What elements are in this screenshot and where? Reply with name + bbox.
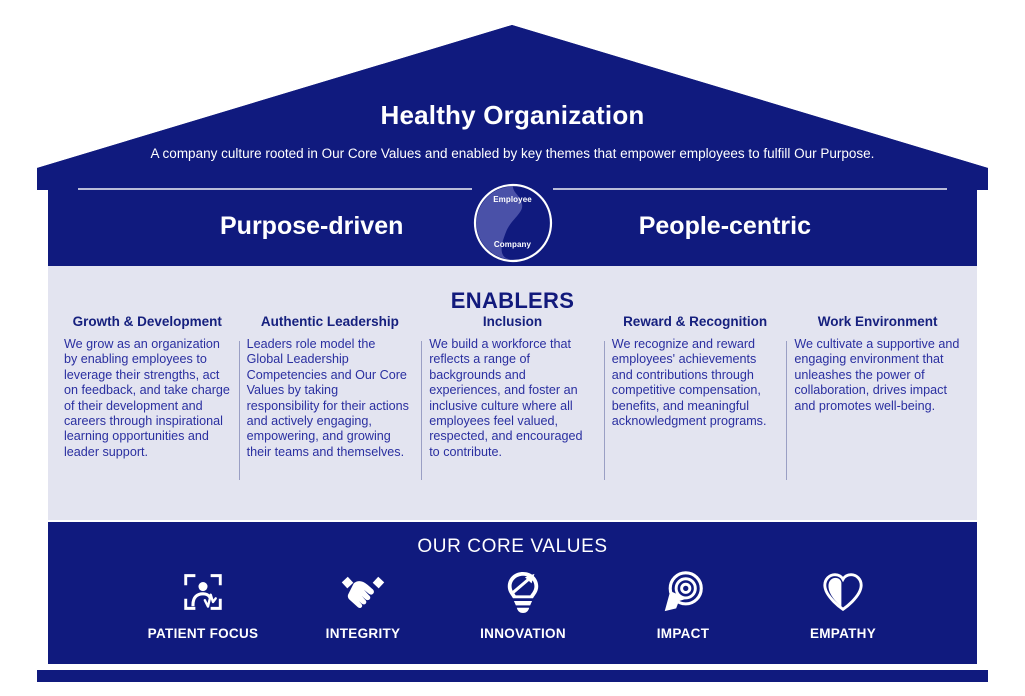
core-value-item: INTEGRITY [288, 568, 438, 641]
band-rule-left [78, 188, 472, 190]
enabler-column: Growth & Development We grow as an organ… [56, 314, 239, 484]
core-value-label: INTEGRITY [288, 626, 438, 641]
core-value-item: EMPATHY [768, 568, 918, 641]
enablers-title: ENABLERS [48, 288, 977, 314]
enabler-title: Work Environment [794, 314, 961, 329]
core-value-label: IMPACT [608, 626, 758, 641]
emblem-label-company: Company [472, 240, 554, 249]
core-value-item: IMPACT [608, 568, 758, 641]
lightbulb-arrow-icon [448, 568, 598, 616]
handshake-glyph [339, 574, 387, 611]
enabler-title: Authentic Leadership [247, 314, 414, 329]
enabler-body: We cultivate a supportive and engaging e… [794, 337, 961, 414]
patient-focus-icon [128, 568, 278, 616]
core-value-item: INNOVATION [448, 568, 598, 641]
page-title: Healthy Organization [0, 100, 1025, 131]
core-value-label: INNOVATION [448, 626, 598, 641]
band-rule-right [553, 188, 947, 190]
enabler-body: We recognize and reward employees' achie… [612, 337, 779, 429]
enabler-column: Reward & Recognition We recognize and re… [604, 314, 787, 484]
enabler-title: Reward & Recognition [612, 314, 779, 329]
pillars-band: Purpose-driven People-centric Employee C… [48, 186, 977, 268]
core-values-panel: OUR CORE VALUES PATIENT FOCUS [48, 522, 977, 664]
enablers-columns: Growth & Development We grow as an organ… [56, 314, 969, 484]
employee-company-emblem: Employee Company [472, 182, 554, 264]
empathy-glyph [822, 572, 864, 612]
core-value-label: EMPATHY [768, 626, 918, 641]
foundation-bar [37, 670, 988, 682]
impact-glyph [662, 571, 704, 613]
enabler-column: Inclusion We build a workforce that refl… [421, 314, 604, 484]
core-value-label: PATIENT FOCUS [128, 626, 278, 641]
enabler-body: We grow as an organization by enabling e… [64, 337, 231, 460]
target-arrow-icon [608, 568, 758, 616]
enablers-panel: ENABLERS Growth & Development We grow as… [48, 266, 977, 520]
enabler-body: We build a workforce that reflects a ran… [429, 337, 596, 460]
emblem-label-employee: Employee [472, 195, 554, 204]
enabler-column: Authentic Leadership Leaders role model … [239, 314, 422, 484]
heart-icon [768, 568, 918, 616]
enabler-column: Work Environment We cultivate a supporti… [786, 314, 969, 484]
pillar-people-centric: People-centric [639, 212, 811, 241]
core-values-list: PATIENT FOCUS INTEGRITY [128, 568, 918, 641]
page-subtitle: A company culture rooted in Our Core Val… [0, 146, 1025, 161]
enabler-body: Leaders role model the Global Leadership… [247, 337, 414, 460]
enabler-title: Inclusion [429, 314, 596, 329]
healthy-organization-diagram: Healthy Organization A company culture r… [0, 0, 1025, 696]
core-value-item: PATIENT FOCUS [128, 568, 278, 641]
patient-focus-glyph [181, 572, 225, 612]
enabler-title: Growth & Development [64, 314, 231, 329]
core-values-title: OUR CORE VALUES [48, 536, 977, 558]
pillar-purpose-driven: Purpose-driven [220, 212, 403, 241]
innovation-glyph [503, 570, 543, 614]
handshake-icon [288, 568, 438, 616]
